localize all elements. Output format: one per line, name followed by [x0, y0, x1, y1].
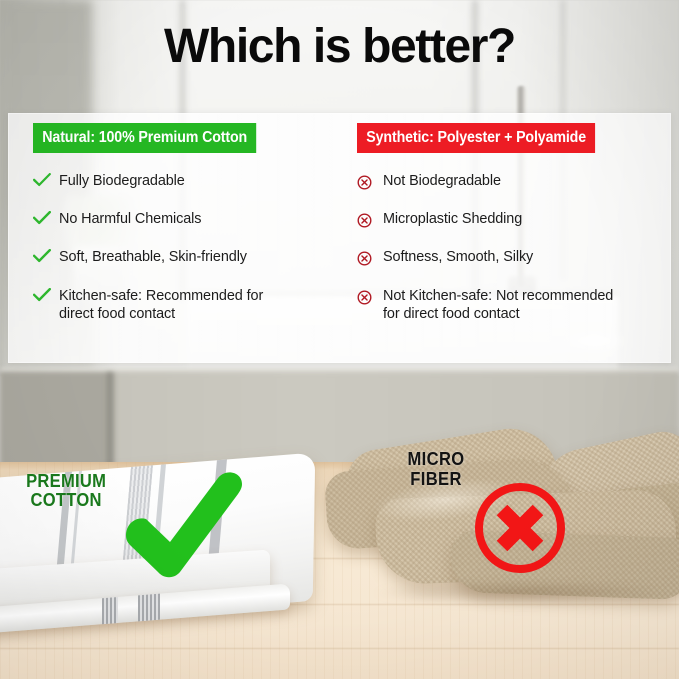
- comparison-infographic: Which is better? Natural: 100% Premium C…: [0, 0, 679, 679]
- check-mark-icon: [118, 466, 246, 578]
- circle-x-icon: [357, 210, 383, 228]
- premium-cotton-label: PREMIUM COTTON: [22, 472, 110, 511]
- page-title: Which is better?: [0, 23, 679, 71]
- list-item: Microplastic Shedding: [357, 210, 670, 228]
- list-item-label: Microplastic Shedding: [383, 210, 522, 228]
- list-item: Softness, Smooth, Silky: [357, 248, 670, 266]
- list-item: Not Biodegradable: [357, 172, 670, 190]
- list-item-label: Not Kitchen-safe: Not recommended for di…: [383, 287, 613, 323]
- list-item-label: Soft, Breathable, Skin-friendly: [59, 248, 247, 266]
- circle-x-icon: [357, 172, 383, 190]
- circle-x-icon: [357, 248, 383, 266]
- towel-hem-stripe: [138, 594, 160, 622]
- natural-column: Natural: 100% Premium Cotton Fully Biode…: [9, 114, 348, 362]
- microfiber-shadow: [370, 580, 670, 606]
- list-item-label: No Harmful Chemicals: [59, 210, 201, 228]
- list-item-label: Kitchen-safe: Recommended for direct foo…: [59, 287, 263, 323]
- table-plank-seam: [0, 648, 679, 649]
- check-icon: [33, 287, 59, 302]
- circle-x-mark-icon: [473, 481, 567, 575]
- list-item: Kitchen-safe: Recommended for direct foo…: [33, 287, 348, 323]
- synthetic-drawback-list: Not Biodegradable Microplastic Shedding …: [357, 172, 670, 322]
- list-item: Soft, Breathable, Skin-friendly: [33, 248, 348, 266]
- circle-x-icon: [357, 287, 383, 305]
- list-item: No Harmful Chemicals: [33, 210, 348, 228]
- towel-hem-stripe: [102, 597, 118, 624]
- list-item: Not Kitchen-safe: Not recommended for di…: [357, 287, 670, 323]
- natural-benefit-list: Fully Biodegradable No Harmful Chemicals…: [33, 172, 348, 322]
- check-icon: [33, 248, 59, 263]
- microfiber-label: MICRO FIBER: [402, 450, 470, 490]
- check-icon: [33, 210, 59, 225]
- comparison-panel: Natural: 100% Premium Cotton Fully Biode…: [8, 113, 671, 363]
- synthetic-badge: Synthetic: Polyester + Polyamide: [357, 123, 595, 153]
- list-item: Fully Biodegradable: [33, 172, 348, 190]
- check-icon: [33, 172, 59, 187]
- list-item-label: Not Biodegradable: [383, 172, 501, 190]
- list-item-label: Softness, Smooth, Silky: [383, 248, 533, 266]
- natural-badge: Natural: 100% Premium Cotton: [33, 123, 256, 153]
- synthetic-column: Synthetic: Polyester + Polyamide Not Bio…: [348, 114, 670, 362]
- list-item-label: Fully Biodegradable: [59, 172, 185, 190]
